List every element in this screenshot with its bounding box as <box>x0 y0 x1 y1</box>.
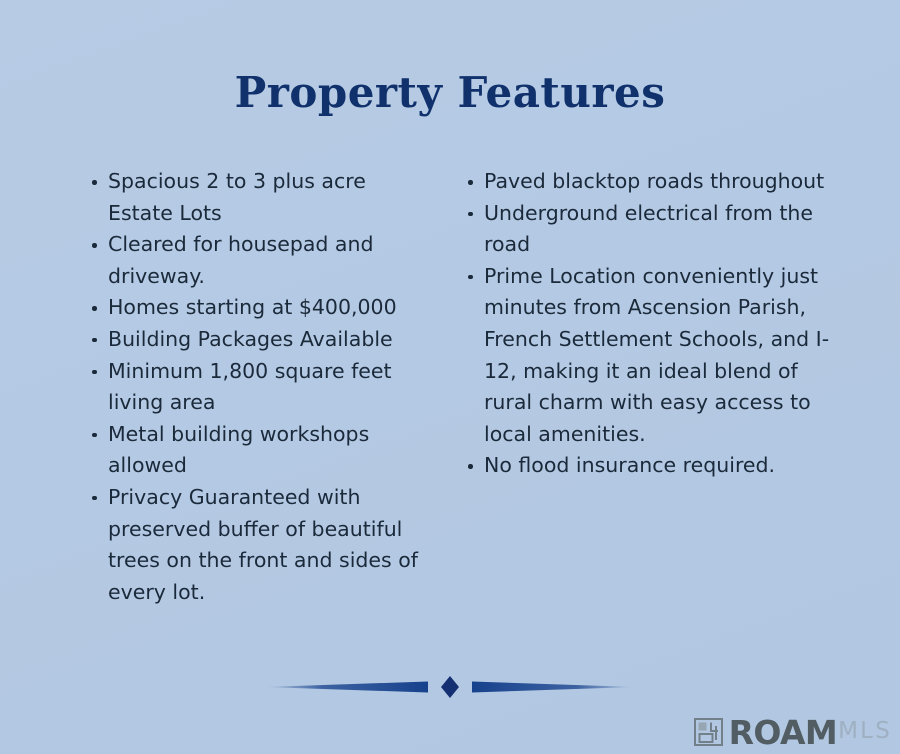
logo-secondary-text: MLS <box>838 720 892 744</box>
roam-mls-logo: ROAM MLS <box>694 712 892 752</box>
feature-list-right: Paved blacktop roads throughout Undergro… <box>462 166 840 482</box>
list-item: Minimum 1,800 square feet living area <box>108 356 432 419</box>
logo-primary-text: ROAM <box>729 716 838 749</box>
list-item: Underground electrical from the road <box>484 198 840 261</box>
roam-building-icon <box>694 717 724 747</box>
features-column-left: Spacious 2 to 3 plus acre Estate Lots Cl… <box>0 166 440 608</box>
page-title: Property Features <box>0 70 900 116</box>
list-item: Prime Location conveniently just minutes… <box>484 261 840 451</box>
list-item: No flood insurance required. <box>484 450 840 482</box>
divider <box>0 664 900 710</box>
list-item: Paved blacktop roads throughout <box>484 166 840 198</box>
slide-canvas: Property Features Spacious 2 to 3 plus a… <box>0 0 900 754</box>
list-item: Privacy Guaranteed with preserved buffer… <box>108 482 432 608</box>
list-item: Metal building workshops allowed <box>108 419 432 482</box>
diamond-flourish-divider-icon <box>265 672 635 702</box>
feature-list-left: Spacious 2 to 3 plus acre Estate Lots Cl… <box>86 166 432 608</box>
list-item: Homes starting at $400,000 <box>108 292 432 324</box>
list-item: Building Packages Available <box>108 324 432 356</box>
features-column-right: Paved blacktop roads throughout Undergro… <box>440 166 900 482</box>
list-item: Cleared for housepad and driveway. <box>108 229 432 292</box>
features-columns: Spacious 2 to 3 plus acre Estate Lots Cl… <box>0 166 900 608</box>
list-item: Spacious 2 to 3 plus acre Estate Lots <box>108 166 432 229</box>
